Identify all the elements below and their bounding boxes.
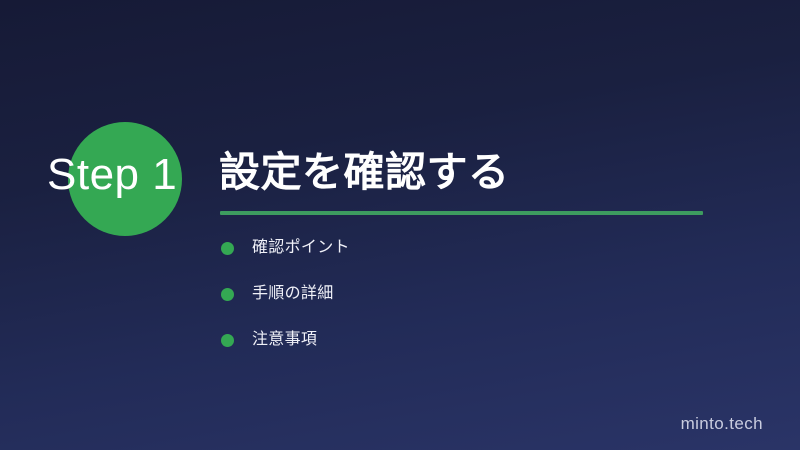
title-underline-divider [220,211,703,215]
list-item: 手順の詳細 [221,282,691,306]
list-item: 注意事項 [221,328,691,352]
bullet-dot-icon [221,288,234,301]
slide-title: 設定を確認する [219,145,739,199]
bullet-dot-icon [221,242,234,255]
list-item-label: 確認ポイント [252,236,350,260]
slide-canvas: Step 1 設定を確認する 確認ポイント 手順の詳細 注意事項 minto.t… [0,0,800,450]
list-item-label: 手順の詳細 [252,282,334,306]
bullet-dot-icon [221,334,234,347]
list-item-label: 注意事項 [252,328,317,352]
list-item: 確認ポイント [221,236,691,260]
bullet-list: 確認ポイント 手順の詳細 注意事項 [221,236,691,352]
footer-brand-text: minto.tech [681,414,763,434]
